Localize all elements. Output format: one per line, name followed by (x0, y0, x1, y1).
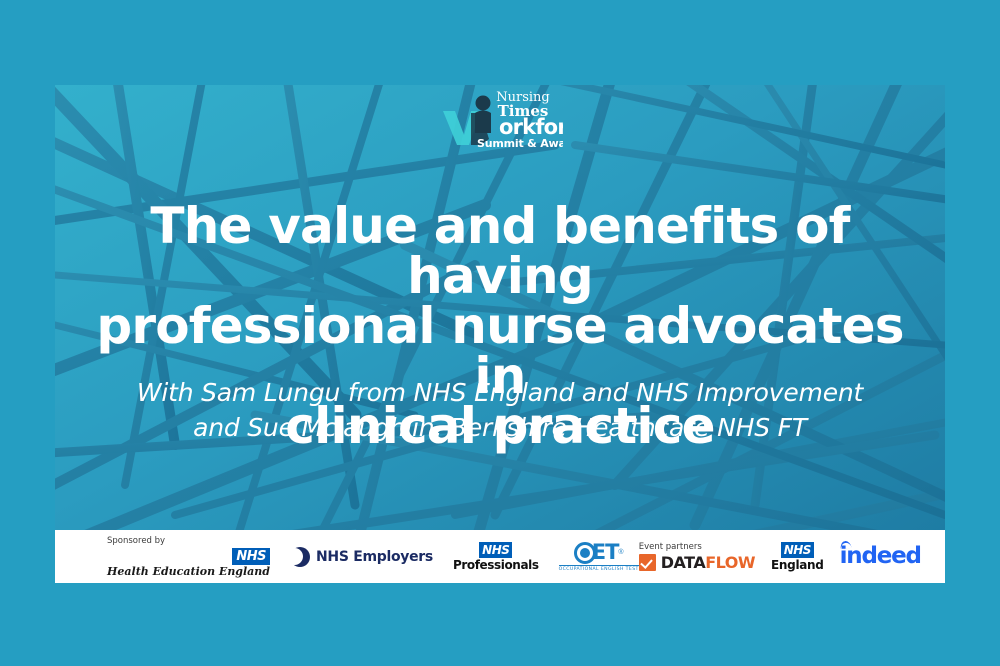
partner-name: indeed (840, 545, 921, 568)
partner-indeed[interactable]: indeed (840, 545, 921, 568)
svg-text:orkforce: orkforce (499, 115, 563, 139)
nhs-logo-icon: NHS (781, 542, 814, 558)
partner-name-part2: FLOW (705, 553, 755, 572)
nhs-logo-icon: NHS (232, 548, 270, 565)
partner-nhs-england[interactable]: NHS England (771, 542, 824, 572)
sponsor-name: Health Education England (107, 565, 270, 578)
sponsor-group-event-partners: Event partners DATAFLOW NHS England (639, 542, 945, 572)
event-logo: Nursing Times orkforce Summit & Awards (435, 85, 565, 153)
checkbox-icon (639, 554, 656, 571)
sponsor-bar: Sponsored by NHS Health Education Englan… (55, 530, 945, 583)
page-subtitle: With Sam Lungu from NHS England and NHS … (55, 375, 945, 445)
partner-dataflow[interactable]: Event partners DATAFLOW (639, 542, 755, 571)
sponsor-health-education-england[interactable]: Sponsored by NHS Health Education Englan… (107, 536, 270, 578)
sponsor-nhs-employers[interactable]: NHS Employers (290, 547, 433, 567)
sponsored-by-kicker: Sponsored by (107, 536, 270, 546)
sponsor-group-sponsors: Sponsored by NHS Health Education Englan… (55, 536, 639, 578)
registered-mark-icon: ® (618, 549, 623, 556)
indeed-arc-icon (839, 540, 851, 550)
subtitle-line-1: With Sam Lungu from NHS England and NHS … (85, 375, 915, 410)
headline-line-1: The value and benefits of having (73, 201, 927, 301)
sponsor-name: OCCUPATIONAL ENGLISH TEST (559, 565, 639, 572)
page-root: Nursing Times orkforce Summit & Awards T… (0, 0, 1000, 666)
event-partners-kicker: Event partners (639, 542, 755, 552)
sponsor-name: NHS Employers (316, 549, 433, 565)
sponsor-name: Professionals (453, 558, 539, 572)
sponsor-nhs-professionals[interactable]: NHS Professionals (453, 542, 539, 572)
oet-letters: ET (592, 542, 619, 563)
crescent-icon (290, 547, 310, 567)
nhs-logo-icon: NHS (479, 542, 512, 558)
partner-name: England (771, 558, 824, 572)
promo-card: Nursing Times orkforce Summit & Awards T… (55, 85, 945, 583)
subtitle-line-2: and Sue Mclaughlin, Berkshire Healthcare… (85, 410, 915, 445)
svg-text:Summit & Awards: Summit & Awards (477, 137, 563, 150)
sponsor-oet[interactable]: ET ® OCCUPATIONAL ENGLISH TEST (559, 542, 639, 572)
partner-name-part1: DATA (661, 553, 705, 572)
